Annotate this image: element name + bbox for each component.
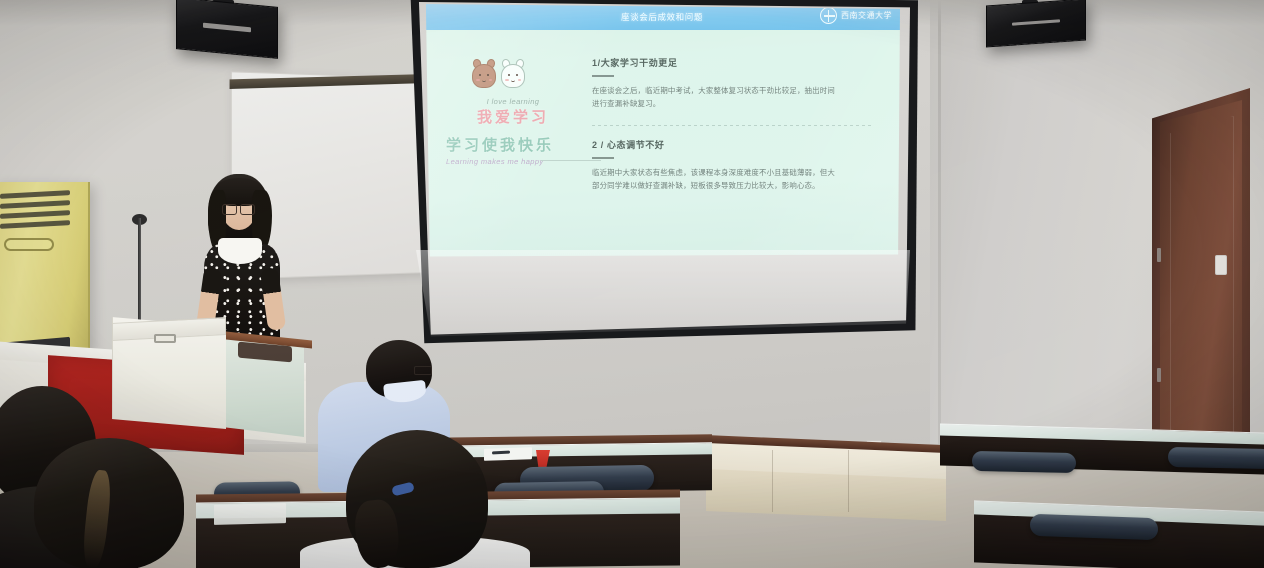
university-logo-text: 西南交通大学 [841,10,892,21]
slide-title: 座谈会后成效和问题 [621,11,703,23]
wall-speaker-right-icon [986,0,1086,47]
paper-sheet [214,503,286,525]
mascot-group [472,64,586,88]
door-hinge [1157,248,1161,262]
light-switch[interactable] [1215,255,1227,275]
door-hinge [1157,368,1161,382]
aside-chinese-top: 我爱学习 [458,106,568,127]
wall-speaker-left-icon [176,0,278,59]
slide-body: I love learning 我爱学习 学习使我快乐 Learning mak… [424,30,900,258]
university-logo: 西南交通大学 [820,7,892,24]
step-seam [772,450,773,512]
male-student-glasses [414,366,432,375]
podium-handle [154,334,176,343]
slide-text-column: 1/大家学习干劲更足 在座谈会之后，临近期中考试，大家整体复习状态干劲比较足，抽… [592,56,874,207]
section-2-rule [592,157,614,159]
section-1-body: 在座谈会之后，临近期中考试，大家整体复习状态干劲比较足，抽出时间进行查漏补缺复习… [592,85,840,111]
door-inset-panel [1170,116,1234,461]
slide-section-1: 1/大家学习干劲更足 在座谈会之后，临近期中考试，大家整体复习状态干劲比较足，抽… [592,56,874,111]
paper-sheet [484,447,532,461]
projected-slide: 座谈会后成效和问题 西南交通大学 [424,4,900,258]
section-2-body: 临近期中大家状态有些焦虑，该课程本身深度难度不小且基础薄弱，但大部分同学难以做好… [592,167,840,193]
section-1-rule [592,75,614,77]
speaker-badge [1012,19,1059,26]
speaker-badge [203,23,251,32]
wall-corner [938,0,941,470]
microphone-stand [138,218,141,330]
chair [1168,447,1264,469]
slide-illustration-column: I love learning 我爱学习 学习使我快乐 Learning mak… [446,64,586,166]
step-seam [848,450,849,512]
chair [1030,514,1158,540]
section-2-heading: 2 / 心态调节不好 [592,138,874,151]
brown-bear-mascot-icon [472,64,496,88]
section-divider [592,125,874,126]
slide-canvas: 座谈会后成效和问题 西南交通大学 [424,4,900,258]
presenter-white-collar [218,238,262,264]
aside-english-bottom: Learning makes me happy [446,157,586,166]
chair [972,451,1076,473]
white-rabbit-mascot-icon [501,64,525,88]
presenter-glasses [222,204,255,213]
aside-chinese-bottom: 学习使我快乐 [446,134,586,155]
yellow-equipment-cabinet [0,182,90,352]
section-1-heading: 1/大家学习干劲更足 [592,56,874,69]
cabinet-badge [4,238,54,251]
classroom-photo: 座谈会后成效和问题 西南交通大学 [0,0,1264,568]
aside-english-top: I love learning [458,97,568,106]
university-crest-icon [820,7,837,24]
slide-section-2: 2 / 心态调节不好 临近期中大家状态有些焦虑，该课程本身深度难度不小且基础薄弱… [592,138,874,193]
